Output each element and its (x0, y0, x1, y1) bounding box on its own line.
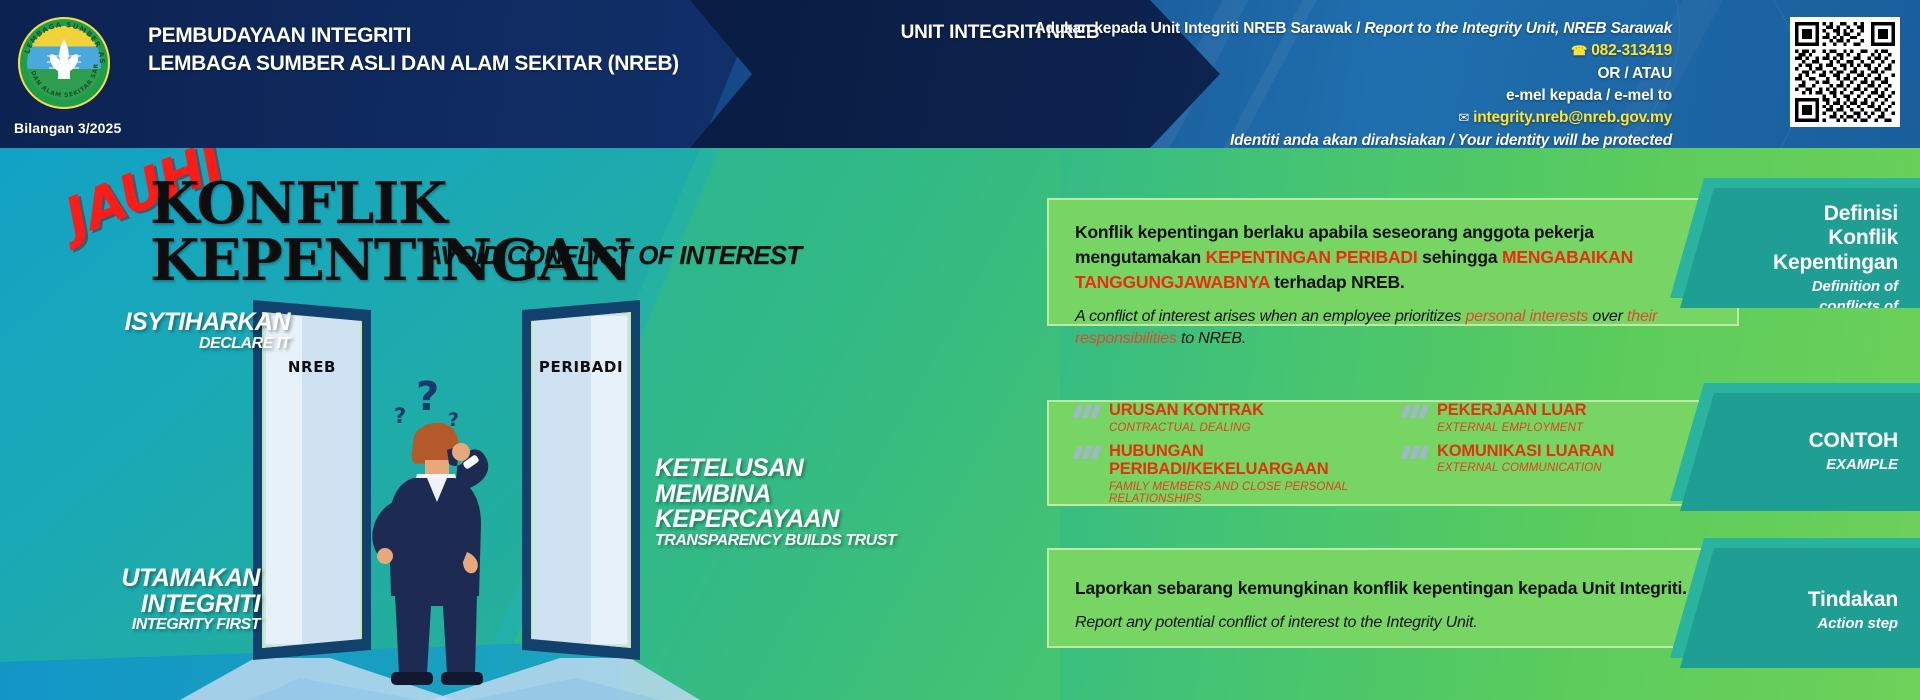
definition-my: Konflik kepentingan berlaku apabila sese… (1075, 220, 1711, 295)
man-illustration (355, 406, 555, 700)
envelope-icon: ✉ (1458, 110, 1469, 125)
nreb-logo: LEMBAGA SUMBER ASLI DAN ALAM SEKITAR SAR… (18, 17, 110, 109)
contact-my: Adukan kepada Unit Integriti NREB Sarawa… (1035, 20, 1352, 37)
example-item: HUBUNGAN PERIBADI/KEKELUARGAAN FAMILY ME… (1075, 442, 1383, 506)
door-label-peribadi: PERIBADI (522, 358, 640, 376)
issue-number: Bilangan 3/2025 (14, 120, 121, 136)
door-label-nreb: NREB (253, 358, 371, 376)
contact-email-label: e-mel kepada / e-mel to (952, 85, 1672, 107)
panel-examples: URUSAN KONTRAK CONTRACTUAL DEALING PEKER… (1047, 400, 1739, 506)
org-title-line2: LEMBAGA SUMBER ASLI DAN ALAM SEKITAR (NR… (148, 50, 708, 78)
example-item: URUSAN KONTRAK CONTRACTUAL DEALING (1075, 401, 1383, 434)
stripes-icon (1075, 405, 1101, 418)
stripes-icon (1403, 405, 1429, 418)
contact-line-1: Adukan kepada Unit Integriti NREB Sarawa… (952, 18, 1672, 40)
contact-email-line[interactable]: ✉ integrity.nreb@nreb.gov.my (952, 107, 1672, 129)
door-nreb[interactable]: NREB (253, 300, 371, 660)
qr-code[interactable] (1790, 17, 1900, 127)
hero-title-block: JAUHI KONFLIK KEPENTINGAN AVOID CONFLICT… (0, 148, 860, 288)
logo-ring-text: LEMBAGA SUMBER ASLI DAN ALAM SEKITAR SAR… (18, 17, 110, 109)
label-isytiharkan: ISYTIHARKAN DECLARE IT (100, 310, 290, 352)
privacy-note: Identiti anda akan dirahsiakan / Your id… (952, 130, 1672, 148)
contact-phone-line[interactable]: ☎ 082-313419 (952, 40, 1672, 62)
page-header: LEMBAGA SUMBER ASLI DAN ALAM SEKITAR SAR… (0, 0, 1920, 148)
action-en: Report any potential conflict of interes… (1075, 612, 1711, 634)
org-title-line1: PEMBUDAYAAN INTEGRITI (148, 22, 708, 50)
side-tab-tindakan[interactable]: Tindakan Action step (1674, 548, 1920, 668)
phone-number[interactable]: 082-313419 (1591, 42, 1672, 59)
hero-subtitle: AVOID CONFLICT OF INTEREST (424, 240, 801, 271)
stripes-icon (1403, 446, 1429, 459)
contact-en: Report to the Integrity Unit, NREB Saraw… (1364, 20, 1672, 37)
hero-title: KONFLIK KEPENTINGAN (150, 175, 860, 289)
action-my: Laporkan sebarang kemungkinan konflik ke… (1075, 576, 1711, 601)
definition-en: A conflict of interest arises when an em… (1075, 306, 1711, 351)
example-item: KOMUNIKASI LUARAN EXTERNAL COMMUNICATION (1403, 442, 1711, 506)
illustration: NREB PERIBADI ? ? ? (0, 278, 880, 700)
label-utamakan: UTAMAKAN INTEGRITI INTEGRITY FIRST (30, 566, 260, 633)
example-item: PEKERJAAN LUAR EXTERNAL EMPLOYMENT (1403, 401, 1711, 434)
org-title: PEMBUDAYAAN INTEGRITI LEMBAGA SUMBER ASL… (148, 22, 708, 77)
panel-definition: Konflik kepentingan berlaku apabila sese… (1047, 198, 1739, 326)
email-address[interactable]: integrity.nreb@nreb.gov.my (1473, 109, 1672, 126)
phone-icon: ☎ (1571, 43, 1587, 58)
label-ketelusan: KETELUSAN MEMBINA KEPERCAYAAN TRANSPAREN… (655, 456, 915, 549)
contact-sep: / (1356, 20, 1360, 37)
contact-or: OR / ATAU (952, 63, 1672, 85)
poster-body: JAUHI KONFLIK KEPENTINGAN AVOID CONFLICT… (0, 148, 1920, 700)
contact-block: Adukan kepada Unit Integriti NREB Sarawa… (952, 18, 1672, 148)
side-tab-definisi[interactable]: Definisi Konflik Kepentingan Definition … (1674, 188, 1920, 308)
side-tab-contoh[interactable]: CONTOH EXAMPLE (1674, 393, 1920, 511)
panel-action: Laporkan sebarang kemungkinan konflik ke… (1047, 548, 1739, 648)
stripes-icon (1075, 446, 1101, 459)
svg-text:LEMBAGA SUMBER ASLI: LEMBAGA SUMBER ASLI (18, 17, 106, 65)
